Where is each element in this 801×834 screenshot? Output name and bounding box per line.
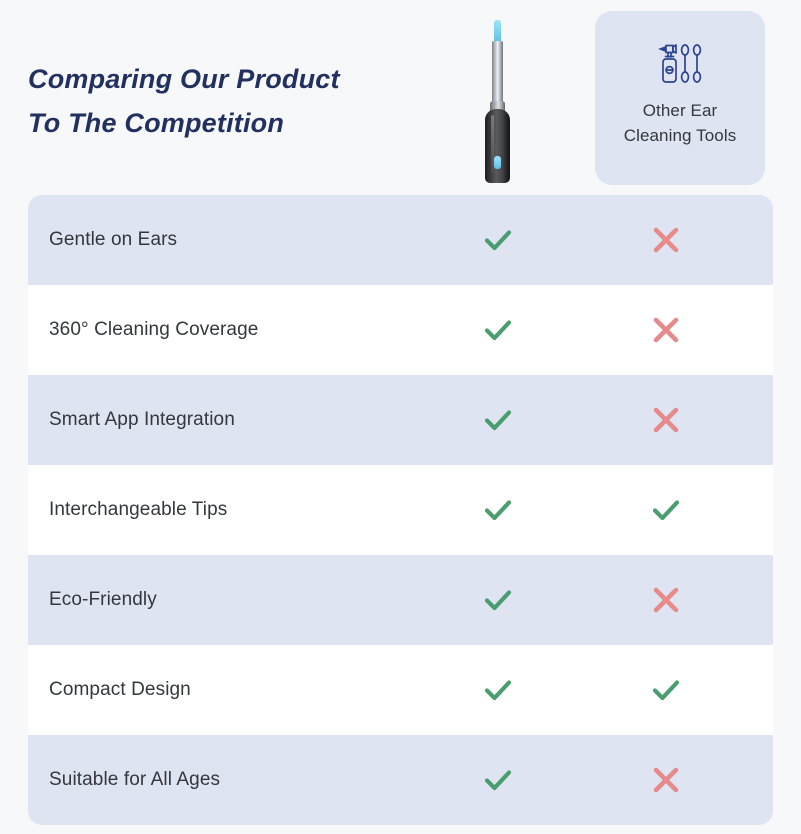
table-row: Suitable for All Ages [28,735,773,825]
other-tools-cross-icon [559,225,773,255]
ear-cleaning-tools-icon [654,43,706,85]
other-tools-label: Other Ear Cleaning Tools [624,99,737,147]
other-tools-cross-icon [559,405,773,435]
our-product-check-icon [437,763,559,797]
ear-cleaning-stick-product-image [468,13,528,183]
other-tools-cross-icon [559,765,773,795]
table-header: Comparing Our Product To The Competition [0,0,801,195]
page-title: Comparing Our Product To The Competition [28,58,428,145]
device-led-indicator [494,156,501,169]
other-tools-cross-icon [559,585,773,615]
feature-label: Suitable for All Ages [28,769,437,791]
feature-label: Smart App Integration [28,409,437,431]
other-tools-cross-icon [559,315,773,345]
table-row: Smart App Integration [28,375,773,465]
other-tools-column-header: Other Ear Cleaning Tools [559,0,801,195]
feature-label: Gentle on Ears [28,229,437,251]
our-product-check-icon [437,403,559,437]
our-product-check-icon [437,583,559,617]
feature-label: 360° Cleaning Coverage [28,319,437,341]
comparison-rows: Gentle on Ears 360° Cleaning Coverage Sm… [28,195,773,825]
table-row: Eco-Friendly [28,555,773,645]
our-product-check-icon [437,493,559,527]
feature-label: Interchangeable Tips [28,499,437,521]
our-product-check-icon [437,313,559,347]
our-product-column-header [437,0,559,195]
our-product-check-icon [437,223,559,257]
other-tools-card: Other Ear Cleaning Tools [595,11,765,185]
table-row: 360° Cleaning Coverage [28,285,773,375]
our-product-check-icon [437,673,559,707]
device-handle [485,109,510,183]
feature-label: Compact Design [28,679,437,701]
table-row: Gentle on Ears [28,195,773,285]
table-row: Interchangeable Tips [28,465,773,555]
table-row: Compact Design [28,645,773,735]
comparison-table-page: Comparing Our Product To The Competition [0,0,801,834]
other-tools-check-icon [559,493,773,527]
other-tools-check-icon [559,673,773,707]
feature-label: Eco-Friendly [28,589,437,611]
